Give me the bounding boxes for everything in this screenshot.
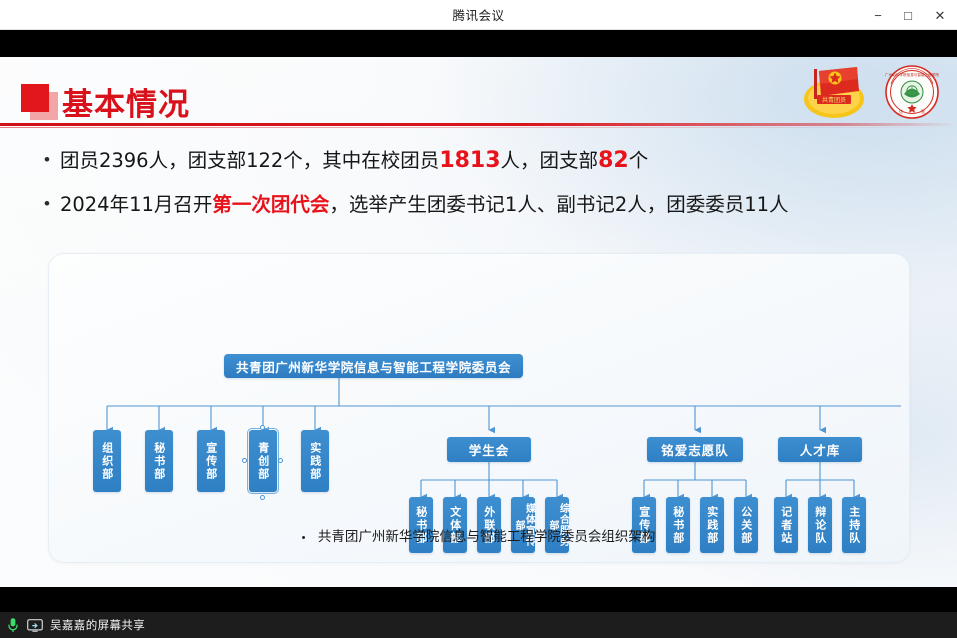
minimize-button[interactable]: − [863,0,893,30]
selection-handle-left[interactable] [242,458,247,463]
org-node-department-2[interactable]: 秘书部 [145,430,173,492]
bullet-highlight: 82 [598,148,629,173]
header-divider [0,123,957,126]
org-node-branch-3[interactable]: 人才库 [778,437,862,462]
org-node-root[interactable]: 共青团广州新华学院信息与智能工程学院委员会 [224,354,523,378]
bullet-part: 2024年11月召开 [60,193,212,216]
bullet-item: • 团员2396人，团支部122个，其中在校团员1813人，团支部82个 [44,147,924,176]
svg-text:共青团员: 共青团员 [822,96,846,104]
letterbox-top [0,30,957,57]
title-decoration-square-front [21,84,49,112]
org-node-branch-1[interactable]: 学生会 [447,437,531,462]
selection-handle-right[interactable] [278,458,283,463]
bullet-text: 团员2396人，团支部122个，其中在校团员1813人，团支部82个 [60,147,648,176]
selection-handle-top[interactable] [260,425,265,430]
window-title: 腾讯会议 [452,5,504,24]
slide-title: 基本情况 [62,79,190,124]
screen-share-label: 吴嘉嘉的屏幕共享 [50,617,145,633]
slide-bullet-list: • 团员2396人，团支部122个，其中在校团员1813人，团支部82个 • 2… [44,147,924,233]
window-titlebar: 腾讯会议 − □ ✕ [0,0,957,30]
caption-marker: • [302,532,306,544]
svg-text:智: 智 [921,108,925,114]
bullet-marker: • [44,151,50,168]
bullet-highlight: 第一次团代会 [212,193,329,216]
org-node-department-4[interactable]: 青创部 [249,430,277,492]
window-controls: − □ ✕ [863,0,957,30]
org-chart-caption-row: • 共青团广州新华学院信息与智能工程学院委员会组织架构 [0,525,957,546]
bullet-highlight: 1813 [439,148,500,173]
screen-share-icon[interactable] [27,619,43,632]
org-node-department-5[interactable]: 实践部 [301,430,329,492]
bullet-text: 2024年11月召开第一次团代会，选举产生团委书记1人、副书记2人，团委委员11… [60,192,789,217]
org-node-department-1[interactable]: 组织部 [93,430,121,492]
org-chart-panel: 共青团广州新华学院信息与智能工程学院委员会 组织部 秘书部 宣传部 青创部 实践… [48,253,910,563]
bullet-part: 团员2396人，团支部122个，其中在校团员 [60,149,439,172]
slide-header: 基本情况 共青团员 [0,57,957,129]
bullet-item: • 2024年11月召开第一次团代会，选举产生团委书记1人、副书记2人，团委委员… [44,192,924,217]
svg-text:广州新华学院信息与智能工程学院: 广州新华学院信息与智能工程学院 [885,72,939,77]
svg-text:信: 信 [899,108,903,114]
close-button[interactable]: ✕ [923,0,957,30]
microphone-icon[interactable] [6,617,20,633]
selection-handle-bottom[interactable] [260,495,265,500]
org-node-department-3[interactable]: 宣传部 [197,430,225,492]
shared-screen-slide: 基本情况 共青团员 [0,57,957,587]
communist-youth-league-emblem-icon: 共青团员 [797,63,871,121]
bullet-part: ，选举产生团委书记1人、副书记2人，团委委员11人 [329,193,788,216]
letterbox-bottom [0,587,957,612]
slide-logos: 共青团员 广州新华学院信息与智能工程学院 信 智 [797,63,943,121]
app-window: 腾讯会议 − □ ✕ 基本情况 [0,0,957,638]
bullet-part: 个 [629,149,649,172]
school-seal-emblem-icon: 广州新华学院信息与智能工程学院 信 智 [881,63,943,121]
maximize-button[interactable]: □ [893,0,923,30]
org-node-branch-2[interactable]: 铭爱志愿队 [647,437,743,462]
bullet-marker: • [44,195,50,212]
org-chart-caption: 共青团广州新华学院信息与智能工程学院委员会组织架构 [318,529,656,545]
bullet-part: 人，团支部 [501,149,599,172]
header-divider-thin [0,127,957,128]
screen-share-statusbar: 吴嘉嘉的屏幕共享 [0,612,957,638]
